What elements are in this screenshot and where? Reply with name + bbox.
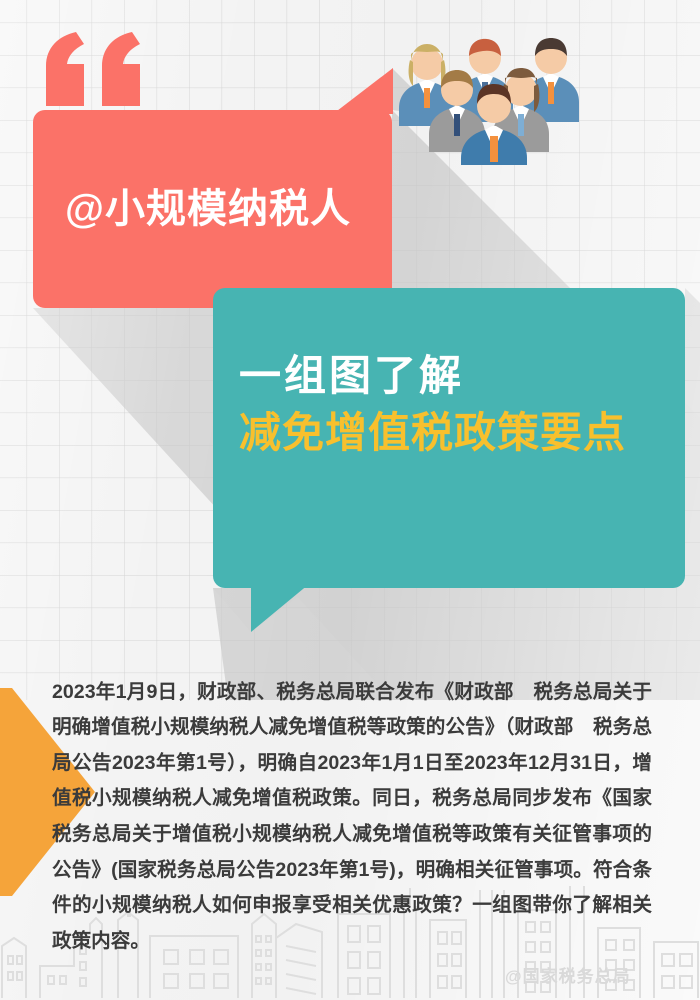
coral-speech-bubble: @小规模纳税人 bbox=[33, 110, 392, 308]
body-paragraph: 2023年1月9日，财政部、税务总局联合发布《财政部 税务总局关于明确增值税小规… bbox=[52, 675, 652, 960]
infographic-poster: @小规模纳税人 一组图了解 减免增值税政策要点 bbox=[0, 0, 700, 1000]
teal-bubble-title-line1: 一组图了解 bbox=[239, 350, 671, 401]
teal-bubble-title-block: 一组图了解 减免增值税政策要点 bbox=[239, 350, 671, 458]
double-quote-icon bbox=[36, 32, 166, 112]
coral-bubble-label: @小规模纳税人 bbox=[65, 110, 382, 308]
teal-speech-bubble: 一组图了解 减免增值税政策要点 bbox=[213, 288, 685, 588]
business-people-group-icon bbox=[395, 30, 585, 165]
watermark-label: @国家税务总局 bbox=[505, 962, 631, 987]
teal-bubble-title-line2: 减免增值税政策要点 bbox=[239, 407, 671, 458]
